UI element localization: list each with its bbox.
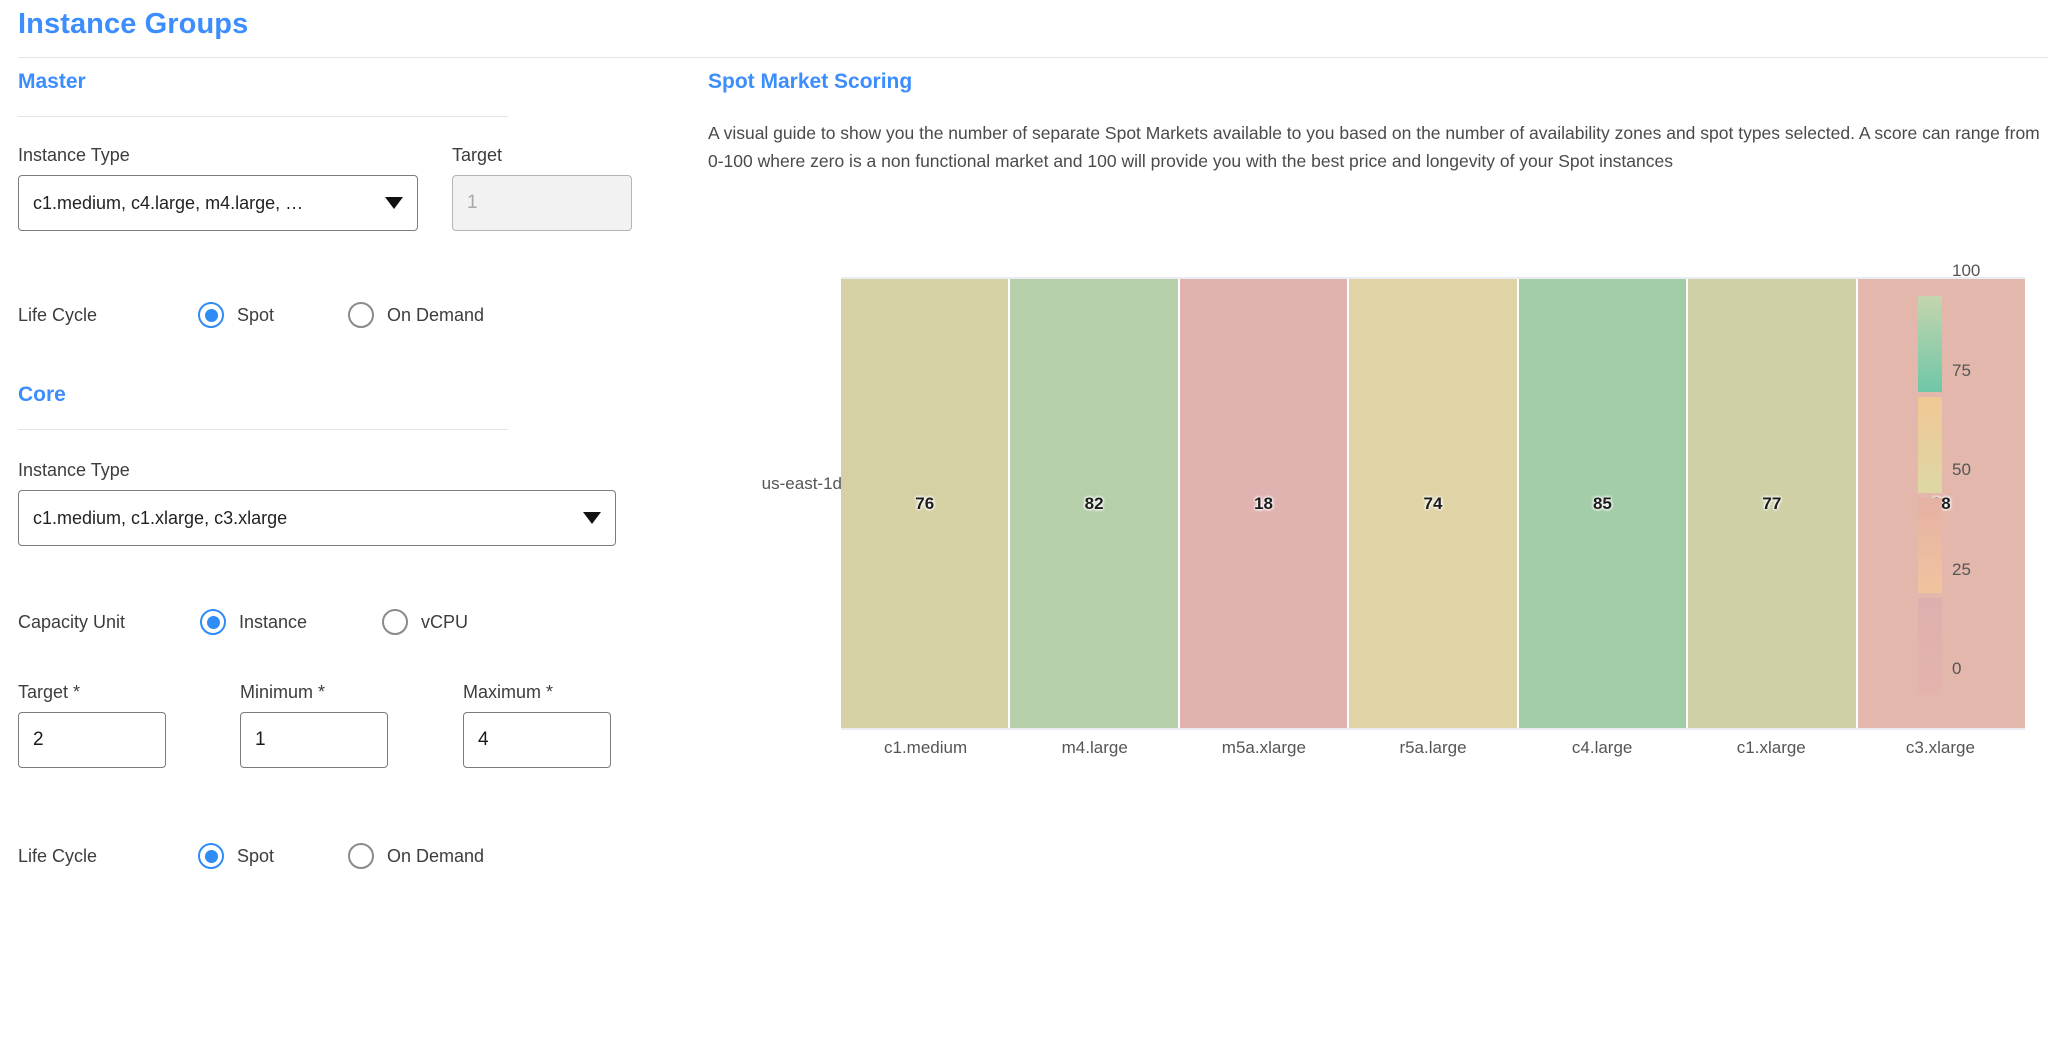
heatmap-x-tick: c1.medium: [841, 738, 1010, 768]
radio-selected-icon: [198, 302, 224, 328]
master-section-heading: Master: [18, 70, 690, 94]
master-target-input[interactable]: 1: [452, 175, 632, 231]
master-life-cycle-spot[interactable]: Spot: [198, 302, 348, 328]
instance-groups-page: Instance Groups Master Instance Type c1.…: [0, 0, 2058, 1058]
instance-groups-form: Master Instance Type c1.medium, c4.large…: [0, 70, 690, 1060]
core-instance-type-value: c1.medium, c1.xlarge, c3.xlarge: [33, 508, 573, 529]
core-capacity-unit-vcpu[interactable]: vCPU: [382, 609, 468, 635]
heatmap-cell-value: 74: [1424, 494, 1443, 514]
master-instance-type-value: c1.medium, c4.large, m4.large, …: [33, 193, 375, 214]
heatmap-cell-value: 82: [1085, 494, 1104, 514]
core-target-input[interactable]: 2: [18, 712, 166, 768]
heatmap-cell-value: 18: [1254, 494, 1273, 514]
chevron-down-icon: [385, 197, 403, 209]
master-divider: [18, 116, 508, 117]
core-capacity-unit-instance-label: Instance: [239, 612, 307, 633]
master-instance-type-select[interactable]: c1.medium, c4.large, m4.large, …: [18, 175, 418, 231]
radio-unselected-icon: [348, 302, 374, 328]
heatmap-x-tick: m5a.xlarge: [1179, 738, 1348, 768]
heatmap-cell[interactable]: 18: [1180, 279, 1349, 728]
radio-selected-icon: [200, 609, 226, 635]
master-life-cycle-on-demand-label: On Demand: [387, 305, 484, 326]
heatmap-cell[interactable]: 76: [841, 279, 1010, 728]
colorbar-tick-label: 75: [1952, 361, 1971, 381]
heatmap-row-label: us-east-1d: [692, 474, 842, 494]
core-target-label: Target *: [18, 682, 80, 703]
heatmap-x-tick: m4.large: [1010, 738, 1179, 768]
core-capacity-unit-instance[interactable]: Instance: [200, 609, 382, 635]
spot-market-scoring-panel: Spot Market Scoring A visual guide to sh…: [700, 70, 2058, 175]
core-life-cycle-spot-label: Spot: [237, 846, 274, 867]
colorbar-segment: [1918, 598, 1942, 694]
colorbar-tick-label: 25: [1952, 560, 1971, 580]
heatmap-cell[interactable]: 85: [1519, 279, 1688, 728]
master-target-placeholder: 1: [467, 192, 478, 214]
core-life-cycle-spot[interactable]: Spot: [198, 843, 348, 869]
radio-selected-icon: [198, 843, 224, 869]
core-capacity-unit-label: Capacity Unit: [18, 612, 200, 633]
heatmap-colorbar-ticks: 1007550250: [1952, 270, 2042, 710]
core-life-cycle-on-demand-label: On Demand: [387, 846, 484, 867]
heatmap-x-tick: r5a.large: [1348, 738, 1517, 768]
core-life-cycle-label: Life Cycle: [18, 846, 198, 867]
heatmap-cell-value: 77: [1762, 494, 1781, 514]
core-instance-type-label: Instance Type: [18, 460, 130, 481]
master-instance-type-label: Instance Type: [18, 145, 130, 166]
heatmap-x-tick: c4.large: [1518, 738, 1687, 768]
master-life-cycle-label: Life Cycle: [18, 305, 198, 326]
radio-unselected-icon: [382, 609, 408, 635]
heatmap-cell-value: 85: [1593, 494, 1612, 514]
core-maximum-value: 4: [478, 729, 489, 751]
colorbar-tick-label: 100: [1952, 261, 1980, 281]
heatmap-cell[interactable]: 74: [1349, 279, 1518, 728]
core-minimum-value: 1: [255, 729, 266, 751]
core-minimum-label: Minimum *: [240, 682, 325, 703]
spot-market-scoring-description: A visual guide to show you the number of…: [708, 120, 2056, 175]
heatmap-cell[interactable]: 77: [1688, 279, 1857, 728]
colorbar-tick-label: 0: [1952, 659, 1961, 679]
heatmap-colorbar: [1918, 296, 1942, 694]
master-target-label: Target: [452, 145, 502, 166]
heatmap-grid: 76821874857728: [841, 277, 2025, 730]
colorbar-segment: [1918, 296, 1942, 392]
heatmap-cell-value: 76: [915, 494, 934, 514]
heatmap-x-tick: c1.xlarge: [1687, 738, 1856, 768]
heatmap-x-tick: c3.xlarge: [1856, 738, 2025, 768]
core-life-cycle-on-demand[interactable]: On Demand: [348, 843, 484, 869]
core-instance-type-select[interactable]: c1.medium, c1.xlarge, c3.xlarge: [18, 490, 616, 546]
core-section-heading: Core: [18, 383, 690, 407]
heatmap-cell[interactable]: 82: [1010, 279, 1179, 728]
colorbar-segment: [1918, 498, 1942, 594]
core-capacity-unit-vcpu-label: vCPU: [421, 612, 468, 633]
core-maximum-label: Maximum *: [463, 682, 553, 703]
core-target-value: 2: [33, 729, 44, 751]
radio-unselected-icon: [348, 843, 374, 869]
spot-market-scoring-heading: Spot Market Scoring: [708, 70, 2058, 94]
page-title: Instance Groups: [18, 8, 248, 41]
master-life-cycle-spot-label: Spot: [237, 305, 274, 326]
chevron-down-icon: [583, 512, 601, 524]
colorbar-segment: [1918, 397, 1942, 493]
master-life-cycle-on-demand[interactable]: On Demand: [348, 302, 484, 328]
core-maximum-input[interactable]: 4: [463, 712, 611, 768]
colorbar-tick-label: 50: [1952, 460, 1971, 480]
core-divider: [18, 429, 508, 430]
title-divider: [18, 57, 2048, 58]
heatmap-x-axis: c1.mediumm4.largem5a.xlarger5a.largec4.l…: [841, 738, 2025, 768]
core-minimum-input[interactable]: 1: [240, 712, 388, 768]
spot-market-heatmap: us-east-1d 76821874857728 c1.mediumm4.la…: [700, 270, 2058, 770]
